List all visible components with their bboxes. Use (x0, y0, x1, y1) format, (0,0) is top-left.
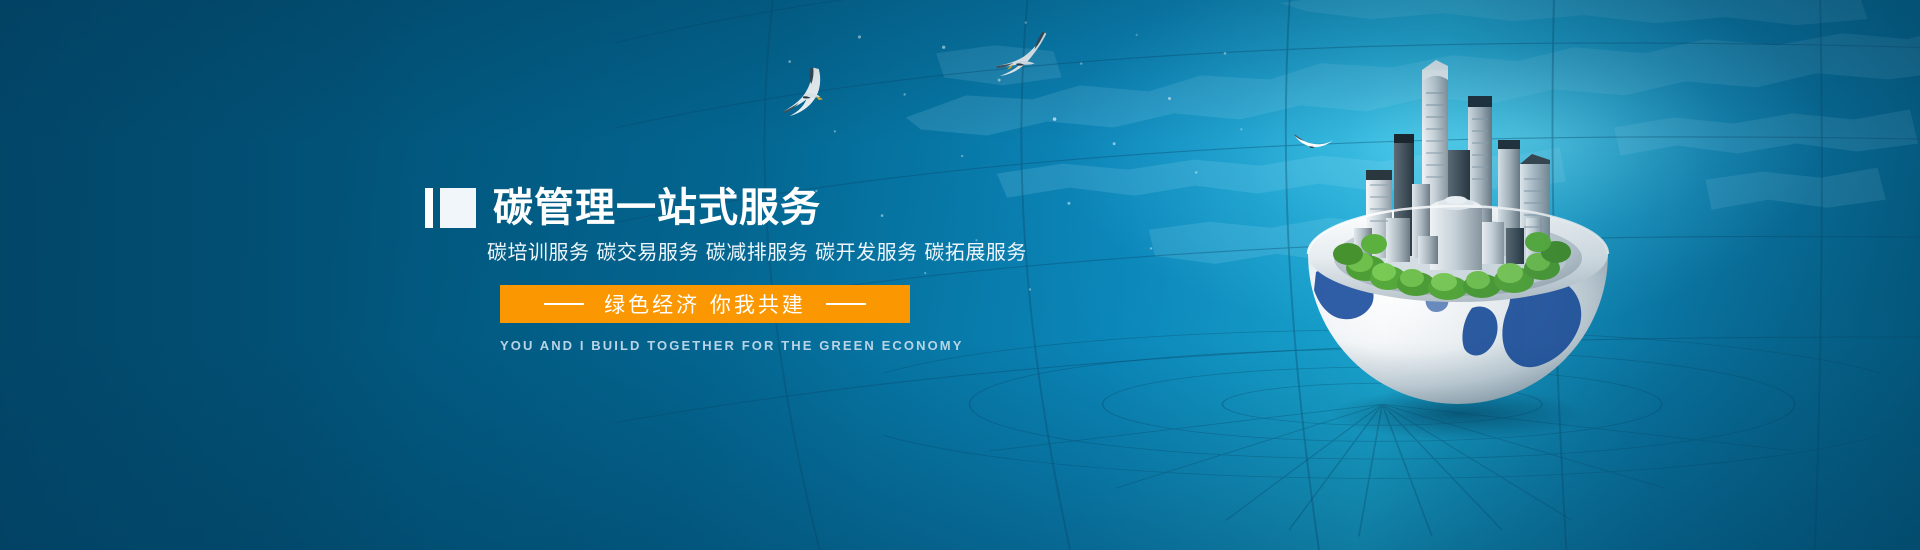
square-icon (440, 188, 476, 228)
slogan-text: 绿色经济 你我共建 (604, 289, 806, 319)
service-list: 碳培训服务 碳交易服务 碳减排服务 碳开发服务 碳拓展服务 (487, 239, 1045, 265)
headline-row: 碳管理一站式服务 (425, 182, 1045, 234)
slogan-banner: 绿色经济 你我共建 (500, 285, 910, 323)
english-tagline: YOU AND I BUILD TOGETHER FOR THE GREEN E… (500, 338, 1045, 353)
left-dash-icon (544, 303, 584, 305)
page-title: 碳管理一站式服务 (493, 186, 821, 230)
hero-banner: 碳管理一站式服务 碳培训服务 碳交易服务 碳减排服务 碳开发服务 碳拓展服务 绿… (0, 0, 1920, 550)
vertical-bar-icon (425, 188, 433, 228)
banner-content: 碳管理一站式服务 碳培训服务 碳交易服务 碳减排服务 碳开发服务 碳拓展服务 绿… (425, 182, 1045, 353)
brand-mark (425, 188, 476, 228)
right-dash-icon (826, 303, 866, 305)
